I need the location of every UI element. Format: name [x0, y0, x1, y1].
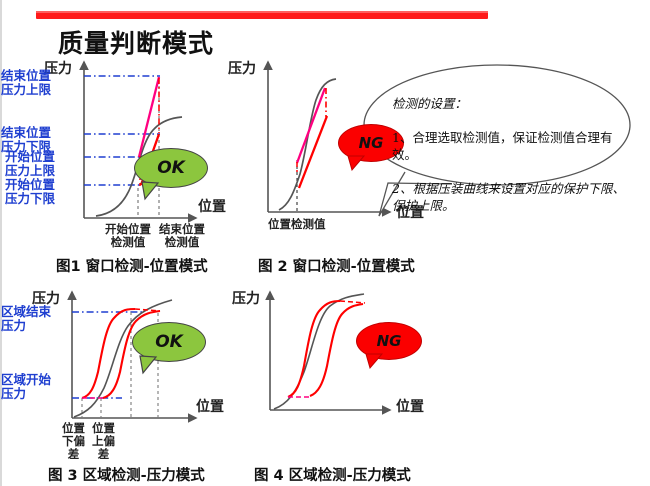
fig1-limit-label-start-lower: 开始位置 压力下限 [5, 178, 55, 206]
fig1-x-label-start: 开始位置 检测值 [105, 223, 151, 249]
fig4-verdict-balloon: NG [356, 322, 422, 360]
fig1-verdict-balloon: OK [134, 148, 208, 188]
diagram-vector-layer [0, 0, 650, 486]
fig2-upper-limit-curve [297, 88, 325, 163]
fig3-x-axis-label: 位置 [196, 396, 224, 416]
callout-heading: 检测的设置： [392, 95, 632, 112]
fig3-balloon-tail [136, 355, 162, 375]
fig3-x-label-upper-tol: 位置 上偏 差 [92, 422, 115, 461]
fig3-band-top-cap [135, 309, 160, 311]
fig4-band-top-cap [340, 301, 365, 303]
fig2-lower-limit-curve [299, 116, 327, 188]
fig4-y-axis-label: 压力 [232, 288, 260, 308]
slide-canvas: 质量判断模式 [0, 0, 650, 486]
fig2-y-axis-label: 压力 [228, 58, 256, 78]
fig2-x-label-detect: 位置检测值 [268, 218, 326, 231]
callout-body: 检测的设置： 1、合理选取检测值，保证检测值合理有效。 2、根据压装曲线来设置对… [392, 78, 632, 231]
fig4-balloon-tail [364, 353, 388, 371]
fig4-x-axis-label: 位置 [396, 396, 424, 416]
fig2-caption: 图 2 窗口检测-位置模式 [258, 255, 415, 276]
fig3-limit-label-zone-end: 区域结束 压力 [1, 305, 51, 333]
callout-item-2: 2、根据压装曲线来设置对应的保护下限、保护上限。 [392, 180, 632, 214]
title-accent-bar [36, 11, 488, 19]
fig3-band-lower-curve [82, 309, 135, 398]
fig4-press-curve [274, 294, 364, 409]
fig1-balloon-tail [138, 181, 164, 201]
fig2-balloon-tail [346, 155, 370, 173]
fig1-x-label-end: 结束位置 检测值 [159, 223, 205, 249]
fig4-caption: 图 4 区域检测-压力模式 [254, 464, 411, 485]
fig1-upper-limit-curve [139, 77, 159, 157]
fig1-limit-label-end-upper: 结束位置 压力上限 [1, 69, 51, 97]
fig3-verdict-balloon: OK [132, 322, 206, 362]
fig3-caption: 图 3 区域检测-压力模式 [48, 464, 205, 485]
fig1-limit-label-start-upper: 开始位置 压力上限 [5, 150, 55, 178]
callout-item-1: 1、合理选取检测值，保证检测值合理有效。 [392, 129, 632, 163]
fig3-limit-label-zone-start: 区域开始 压力 [1, 373, 51, 401]
fig4-band-lower-curve [288, 301, 340, 397]
fig3-x-label-lower-tol: 位置 下偏 差 [62, 422, 85, 461]
page-title: 质量判断模式 [58, 24, 214, 60]
fig2-press-curve [279, 79, 336, 210]
fig2-lower-close [299, 117, 327, 188]
fig1-x-axis-label: 位置 [198, 196, 226, 216]
fig1-caption: 图1 窗口检测-位置模式 [56, 255, 208, 276]
